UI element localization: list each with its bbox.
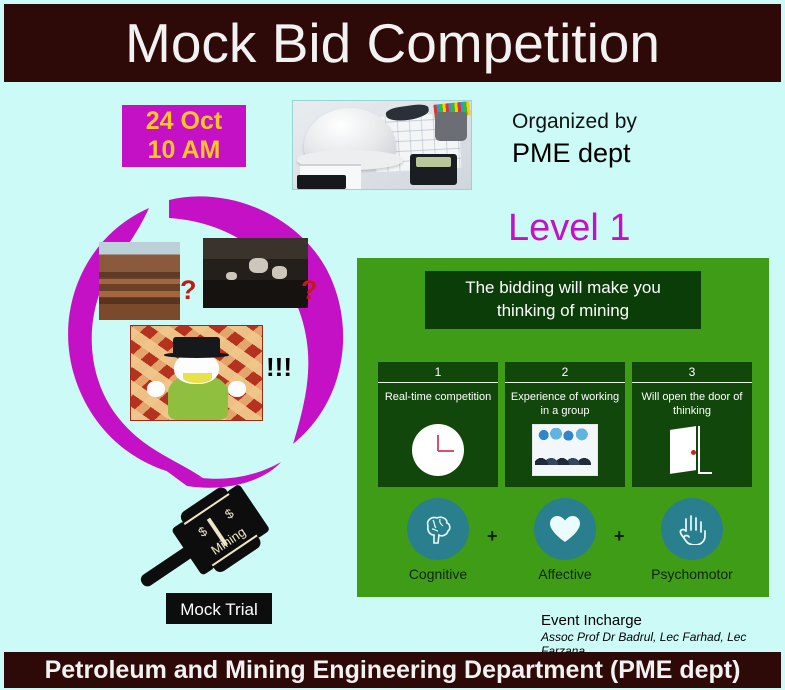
pen-cup-graphic	[435, 112, 467, 142]
money-duck-photo	[130, 325, 263, 421]
feature-card-1: 1 Real-time competition	[378, 362, 498, 487]
card-caption-1: Real-time competition	[378, 383, 498, 404]
footer-banner: Petroleum and Mining Engineering Departm…	[4, 652, 781, 688]
domain-cognitive: Cognitive	[391, 498, 485, 582]
organized-by-label: Organized by	[512, 110, 637, 134]
tagline-line-1: The bidding will make you	[465, 277, 661, 300]
question-mark-1: ?	[180, 277, 197, 304]
plus-sign-2: +	[614, 526, 625, 547]
card-caption-3: Will open the door of thinking	[632, 383, 752, 419]
tagline-line-2: thinking of mining	[497, 300, 629, 323]
panel-tagline-banner: The bidding will make you thinking of mi…	[425, 271, 701, 329]
feature-card-2: 2 Experience of working in a group	[505, 362, 625, 487]
department-name: Petroleum and Mining Engineering Departm…	[45, 658, 741, 683]
organizer-name: PME dept	[512, 138, 631, 169]
level-label: Level 1	[508, 207, 631, 250]
domain-label-cognitive: Cognitive	[391, 566, 485, 582]
domain-label-psychomotor: Psychomotor	[645, 566, 739, 582]
event-time: 10 AM	[148, 136, 221, 165]
exclamation-marks: !!!	[266, 354, 292, 380]
hard-hat-blueprint-photo	[292, 100, 472, 190]
group-photo-icon	[505, 421, 625, 479]
header-banner: Mock Bid Competition	[4, 4, 781, 82]
level-1-panel: The bidding will make you thinking of mi…	[357, 258, 769, 597]
open-pit-mine-photo	[99, 242, 180, 320]
card-number-1: 1	[378, 362, 498, 383]
domain-label-affective: Affective	[518, 566, 612, 582]
poster-canvas: Mock Bid Competition 24 Oct 10 AM Organi…	[0, 0, 785, 690]
domain-psychomotor: Psychomotor	[645, 498, 739, 582]
open-door-icon	[632, 421, 752, 479]
question-mark-2: ?	[301, 277, 318, 304]
page-title: Mock Bid Competition	[125, 16, 660, 71]
calculator-icon	[410, 154, 456, 186]
domain-affective: Affective	[518, 498, 612, 582]
card-number-3: 3	[632, 362, 752, 383]
hand-icon	[661, 498, 723, 560]
clock-icon	[378, 421, 498, 479]
card-number-2: 2	[505, 362, 625, 383]
top-hat-icon	[173, 337, 220, 356]
duck-hand-left	[147, 381, 165, 398]
gavel-graphic: $ $ Mining Mock Trial	[128, 485, 298, 630]
card-caption-2: Experience of working in a group	[505, 383, 625, 419]
feature-card-3: 3 Will open the door of thinking	[632, 362, 752, 487]
event-date: 24 Oct	[146, 107, 222, 136]
gavel-base-text: Mock Trial	[180, 600, 257, 619]
heart-icon	[534, 498, 596, 560]
brain-icon	[407, 498, 469, 560]
keyboard-graphic	[297, 175, 347, 189]
date-time-badge: 24 Oct 10 AM	[122, 105, 246, 167]
event-incharge-title: Event Incharge	[541, 612, 785, 629]
plus-sign-1: +	[487, 526, 498, 547]
underground-mine-photo	[203, 238, 308, 308]
